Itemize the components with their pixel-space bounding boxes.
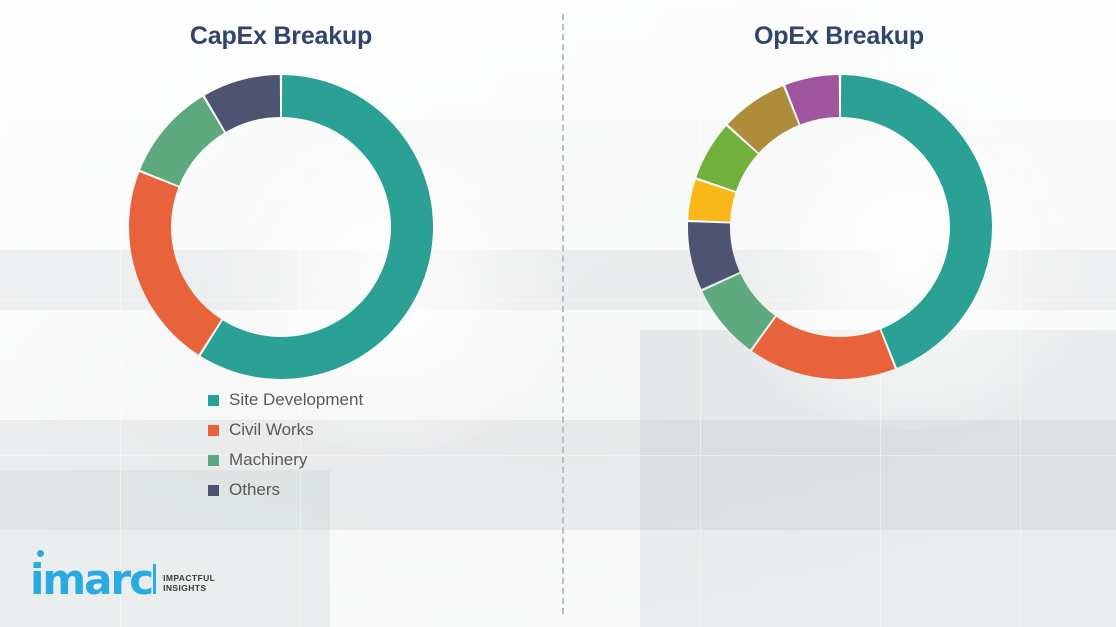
opex-panel: OpEx Breakup Raw MaterialsSalaries and W… [562,0,1116,627]
legend-item-label: Civil Works [229,420,314,440]
donut-slice[interactable] [129,172,221,355]
capex-panel: CapEx Breakup Site DevelopmentCivil Work… [0,0,562,627]
opex-donut-chart [688,75,992,379]
legend-item[interactable]: Machinery [208,450,363,470]
donut-slice[interactable] [140,97,224,186]
donut-slice[interactable] [841,75,992,368]
donut-slice[interactable] [752,317,895,379]
capex-donut-chart [129,75,433,379]
legend-item[interactable]: Civil Works [208,420,363,440]
legend-item[interactable]: Others [208,480,363,500]
legend-swatch [208,425,219,436]
logo-tagline-line2: INSIGHTS [163,583,215,593]
capex-chart-title: CapEx Breakup [0,22,562,51]
logo-tagline-line1: IMPACTFUL [163,573,215,583]
logo-wordmark: imarc [30,563,152,597]
logo-divider-bar [153,564,156,594]
legend-swatch [208,455,219,466]
imarc-logo: imarc IMPACTFUL INSIGHTS [30,563,215,597]
opex-chart-title: OpEx Breakup [562,22,1116,51]
logo-tagline: IMPACTFUL INSIGHTS [163,573,215,597]
legend-swatch [208,485,219,496]
opex-donut-svg [688,75,992,379]
legend-item-label: Machinery [229,450,307,470]
logo-dot [37,550,44,557]
legend-item[interactable]: Site Development [208,390,363,410]
legend-item-label: Site Development [229,390,363,410]
capex-donut-svg [129,75,433,379]
legend-swatch [208,395,219,406]
legend-item-label: Others [229,480,280,500]
capex-legend: Site DevelopmentCivil WorksMachineryOthe… [208,390,363,510]
